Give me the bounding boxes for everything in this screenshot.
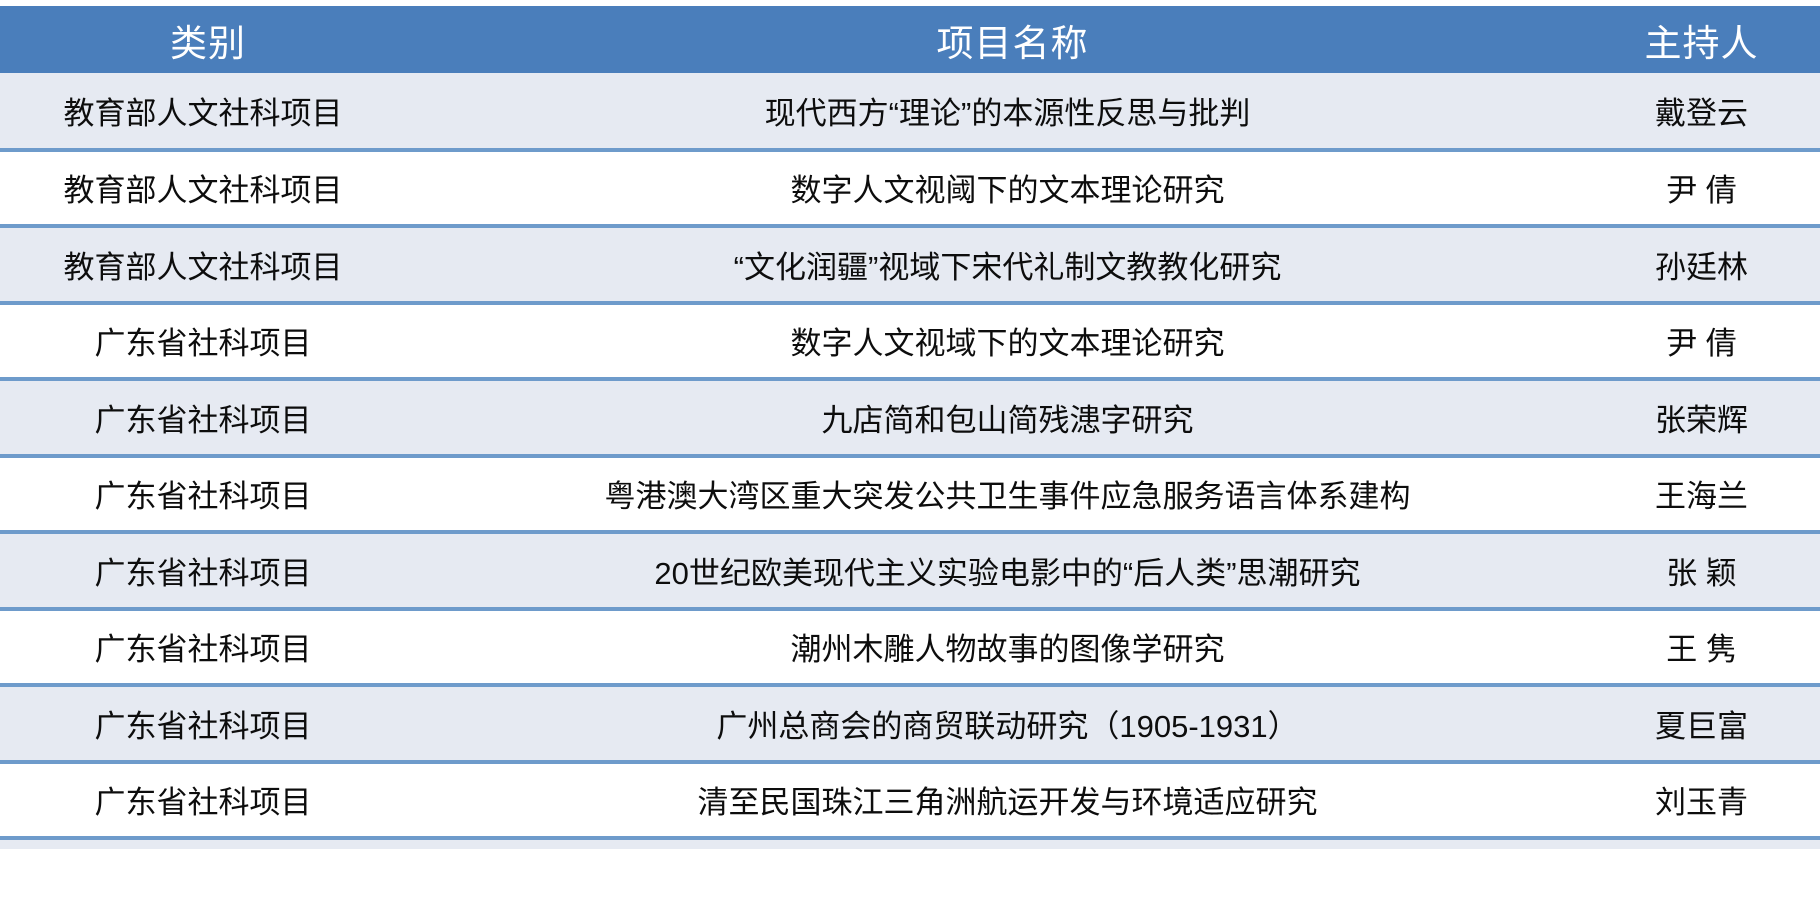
column-header-title: 项目名称 bbox=[420, 6, 1605, 73]
table-row: 教育部人文社科项目“文化润疆”视域下宋代礼制文教教化研究孙廷林 bbox=[0, 226, 1820, 303]
table-row: 广东省社科项目潮州木雕人物故事的图像学研究王 隽 bbox=[0, 609, 1820, 686]
cell-leader: 张 颖 bbox=[1605, 532, 1820, 609]
table-row: 广东省社科项目九店简和包山简残漶字研究张荣辉 bbox=[0, 379, 1820, 456]
table-row: 教育部人文社科项目现代西方“理论”的本源性反思与批判戴登云 bbox=[0, 73, 1820, 150]
table-row: 广东省社科项目清至民国珠江三角洲航运开发与环境适应研究刘玉青 bbox=[0, 762, 1820, 839]
project-table: 类别 项目名称 主持人 教育部人文社科项目现代西方“理论”的本源性反思与批判戴登… bbox=[0, 6, 1820, 840]
cell-category: 教育部人文社科项目 bbox=[0, 73, 420, 150]
cell-project-title: 数字人文视域下的文本理论研究 bbox=[420, 303, 1605, 380]
cell-project-title: 九店简和包山简残漶字研究 bbox=[420, 379, 1605, 456]
cell-leader: 刘玉青 bbox=[1605, 762, 1820, 839]
table-row: 广东省社科项目粤港澳大湾区重大突发公共卫生事件应急服务语言体系建构王海兰 bbox=[0, 456, 1820, 533]
cell-leader: 王 隽 bbox=[1605, 609, 1820, 686]
cell-project-title: 20世纪欧美现代主义实验电影中的“后人类”思潮研究 bbox=[420, 532, 1605, 609]
table-header: 类别 项目名称 主持人 bbox=[0, 6, 1820, 73]
cell-leader: 孙廷林 bbox=[1605, 226, 1820, 303]
cell-category: 广东省社科项目 bbox=[0, 762, 420, 839]
cell-category: 广东省社科项目 bbox=[0, 456, 420, 533]
cell-project-title: 现代西方“理论”的本源性反思与批判 bbox=[420, 73, 1605, 150]
cell-project-title: 粤港澳大湾区重大突发公共卫生事件应急服务语言体系建构 bbox=[420, 456, 1605, 533]
cell-leader: 夏巨富 bbox=[1605, 685, 1820, 762]
project-table-container: 类别 项目名称 主持人 教育部人文社科项目现代西方“理论”的本源性反思与批判戴登… bbox=[0, 0, 1820, 912]
cell-category: 广东省社科项目 bbox=[0, 303, 420, 380]
cell-leader: 张荣辉 bbox=[1605, 379, 1820, 456]
cell-category: 广东省社科项目 bbox=[0, 532, 420, 609]
cell-project-title: 数字人文视阈下的文本理论研究 bbox=[420, 150, 1605, 227]
table-row: 广东省社科项目广州总商会的商贸联动研究（1905-1931）夏巨富 bbox=[0, 685, 1820, 762]
table-header-row: 类别 项目名称 主持人 bbox=[0, 6, 1820, 73]
cell-project-title: 潮州木雕人物故事的图像学研究 bbox=[420, 609, 1605, 686]
table-body: 教育部人文社科项目现代西方“理论”的本源性反思与批判戴登云教育部人文社科项目数字… bbox=[0, 73, 1820, 838]
cell-category: 广东省社科项目 bbox=[0, 609, 420, 686]
cell-leader: 尹 倩 bbox=[1605, 303, 1820, 380]
table-bottom-sliver bbox=[0, 840, 1820, 849]
cell-category: 教育部人文社科项目 bbox=[0, 226, 420, 303]
cell-project-title: “文化润疆”视域下宋代礼制文教教化研究 bbox=[420, 226, 1605, 303]
table-row: 广东省社科项目20世纪欧美现代主义实验电影中的“后人类”思潮研究张 颖 bbox=[0, 532, 1820, 609]
cell-category: 广东省社科项目 bbox=[0, 685, 420, 762]
cell-project-title: 广州总商会的商贸联动研究（1905-1931） bbox=[420, 685, 1605, 762]
cell-category: 广东省社科项目 bbox=[0, 379, 420, 456]
cell-project-title: 清至民国珠江三角洲航运开发与环境适应研究 bbox=[420, 762, 1605, 839]
cell-leader: 戴登云 bbox=[1605, 73, 1820, 150]
table-row: 广东省社科项目数字人文视域下的文本理论研究尹 倩 bbox=[0, 303, 1820, 380]
column-header-leader: 主持人 bbox=[1605, 6, 1820, 73]
table-row: 教育部人文社科项目数字人文视阈下的文本理论研究尹 倩 bbox=[0, 150, 1820, 227]
column-header-category: 类别 bbox=[0, 6, 420, 73]
cell-leader: 尹 倩 bbox=[1605, 150, 1820, 227]
cell-leader: 王海兰 bbox=[1605, 456, 1820, 533]
cell-category: 教育部人文社科项目 bbox=[0, 150, 420, 227]
